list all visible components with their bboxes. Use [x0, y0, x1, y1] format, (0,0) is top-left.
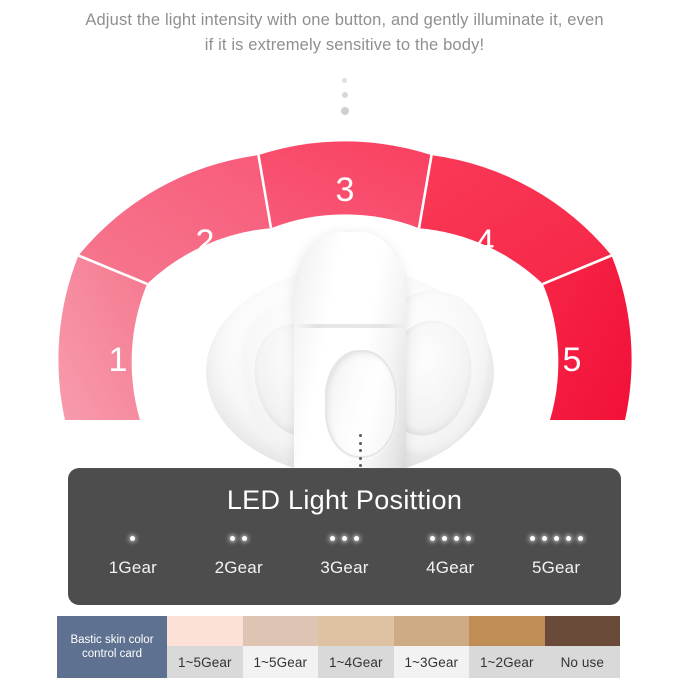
dot-small	[342, 78, 347, 83]
skin-swatch-6	[545, 616, 621, 646]
skin-column-4[interactable]: 1~3Gear	[394, 616, 470, 678]
skin-card-label-line-2: control card	[82, 647, 142, 661]
three-dots-vertical-icon	[0, 78, 689, 124]
skin-column-2[interactable]: 1~5Gear	[243, 616, 319, 678]
headline-text: Adjust the light intensity with one butt…	[0, 8, 689, 58]
gauge-segment-5-label: 5	[563, 341, 582, 379]
skin-card-label-line-1: Bastic skin color	[70, 633, 153, 647]
led-banner-title: LED Light Posittion	[68, 485, 621, 516]
gear-column-4[interactable]: 4Gear	[397, 530, 503, 578]
handset-seam	[295, 324, 405, 328]
gauge-segment-4-label: 4	[476, 223, 495, 261]
gear-4-label: 4Gear	[397, 558, 503, 578]
skin-swatch-4	[394, 616, 470, 646]
skin-gear-6: No use	[545, 646, 621, 678]
skin-gear-5: 1~2Gear	[469, 646, 545, 678]
skin-gear-3: 1~4Gear	[318, 646, 394, 678]
skin-column-1[interactable]: 1~5Gear	[167, 616, 243, 678]
skin-swatch-5	[469, 616, 545, 646]
skin-swatch-1	[167, 616, 243, 646]
skin-swatch-2	[243, 616, 319, 646]
gear-column-2[interactable]: 2Gear	[186, 530, 292, 578]
skin-column-5[interactable]: 1~2Gear	[469, 616, 545, 678]
gear-1-label: 1Gear	[80, 558, 186, 578]
skin-column-3[interactable]: 1~4Gear	[318, 616, 394, 678]
skin-column-6[interactable]: No use	[545, 616, 621, 678]
gear-column-5[interactable]: 5Gear	[503, 530, 609, 578]
headline-line-1: Adjust the light intensity with one butt…	[0, 8, 689, 33]
gauge-segment-3[interactable]: 3	[258, 141, 431, 228]
led-light-position-banner: LED Light Posittion 1Gear 2Gear 3Gear 4G…	[68, 468, 621, 605]
gear-2-dots-icon	[186, 530, 292, 546]
gauge-segment-1-label: 1	[109, 341, 128, 379]
gear-column-1[interactable]: 1Gear	[80, 530, 186, 578]
gear-column-3[interactable]: 3Gear	[292, 530, 398, 578]
gear-1-dots-icon	[80, 530, 186, 546]
gauge-segment-3-label: 3	[336, 171, 355, 209]
gear-3-label: 3Gear	[292, 558, 398, 578]
gauge-segment-2-label: 2	[196, 223, 215, 261]
skin-swatch-3	[318, 616, 394, 646]
gear-3-dots-icon	[292, 530, 398, 546]
skin-gear-1: 1~5Gear	[167, 646, 243, 678]
skin-color-control-card: Bastic skin color control card 1~5Gear 1…	[57, 616, 620, 678]
gear-5-label: 5Gear	[503, 558, 609, 578]
skin-gear-2: 1~5Gear	[243, 646, 319, 678]
skin-gear-4: 1~3Gear	[394, 646, 470, 678]
dot-large	[341, 107, 349, 115]
gauge-segment-5[interactable]: 5	[543, 256, 632, 421]
gear-indicator-row: 1Gear 2Gear 3Gear 4Gear 5Gear	[80, 530, 609, 578]
ipl-handset-image	[232, 232, 468, 494]
headline-line-2: if it is extremely sensitive to the body…	[0, 33, 689, 58]
gear-4-dots-icon	[397, 530, 503, 546]
dot-medium	[342, 92, 348, 98]
gear-5-dots-icon	[503, 530, 609, 546]
gauge-segment-1[interactable]: 1	[58, 256, 147, 421]
skin-card-label: Bastic skin color control card	[57, 616, 167, 678]
gear-2-label: 2Gear	[186, 558, 292, 578]
